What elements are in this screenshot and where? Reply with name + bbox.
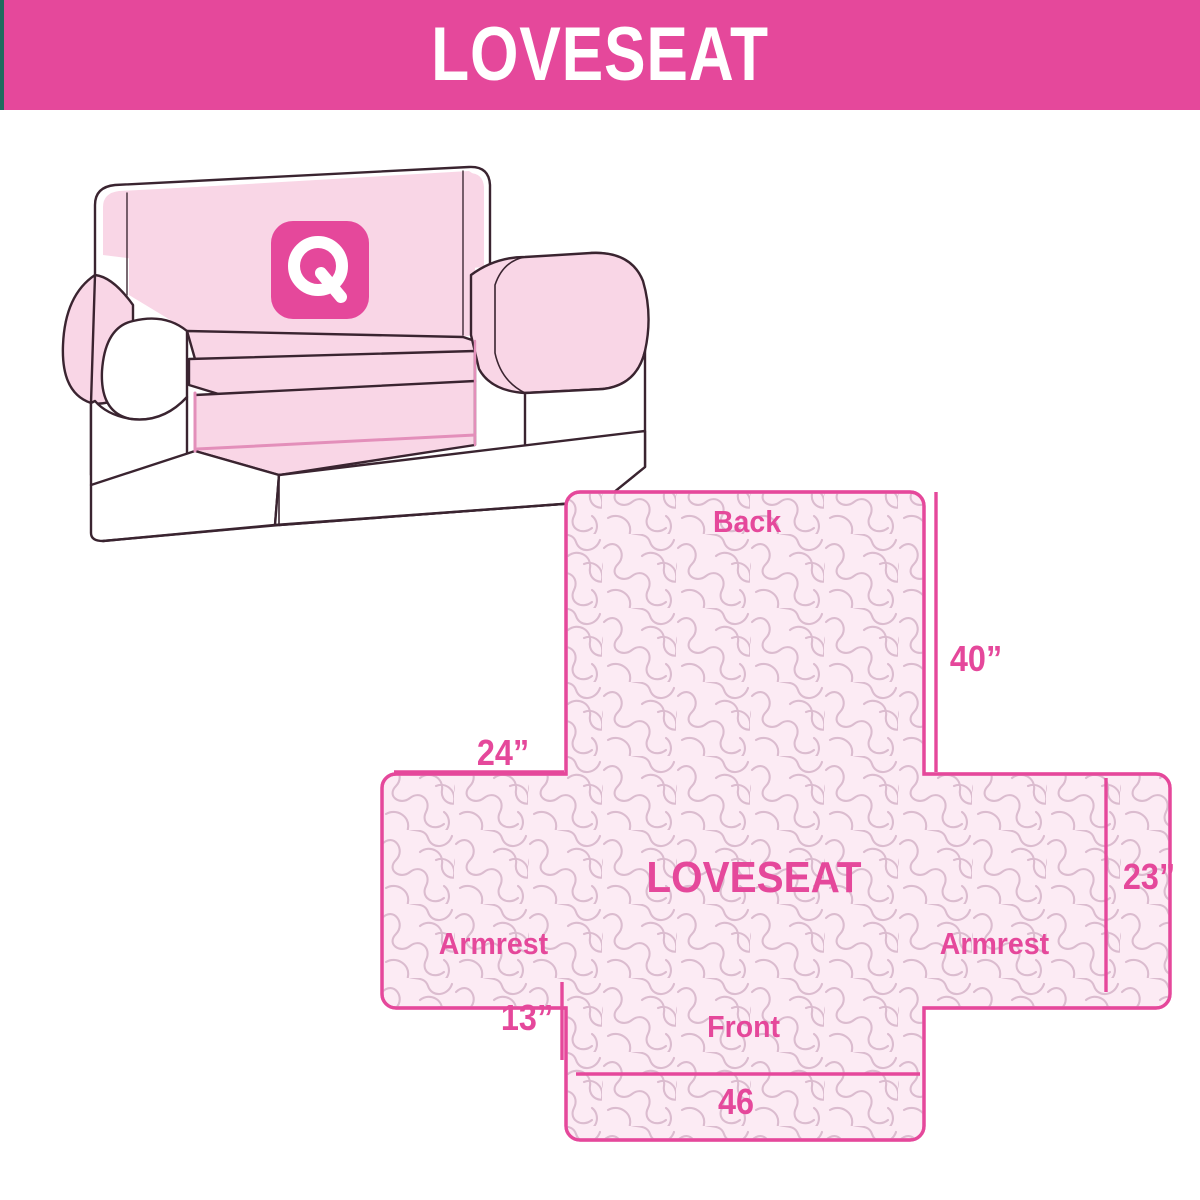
panel-label-armrest-right: Armrest <box>940 928 1049 959</box>
diagram-center-label: LOVESEAT <box>646 856 861 900</box>
page-title: LOVESEAT <box>431 17 769 93</box>
dimension-front-width: 46 <box>718 1084 754 1120</box>
cover-layout-svg <box>380 460 1200 1160</box>
cover-layout-diagram <box>380 460 1200 1160</box>
panel-label-back: Back <box>713 506 781 537</box>
cover-body <box>380 460 1200 1160</box>
panel-label-armrest-left: Armrest <box>439 928 548 959</box>
dimension-armrest-width: 24” <box>477 735 529 771</box>
dimension-back-height: 40” <box>950 641 1002 677</box>
dimension-armrest-height: 23” <box>1123 859 1175 895</box>
dimension-front-depth: 13” <box>501 1000 553 1036</box>
left-edge-accent-strip <box>0 0 4 110</box>
panel-label-front: Front <box>707 1011 780 1042</box>
header-band: LOVESEAT <box>0 0 1200 110</box>
brand-logo-q-icon <box>271 221 369 319</box>
q-glyph-icon <box>271 221 369 319</box>
